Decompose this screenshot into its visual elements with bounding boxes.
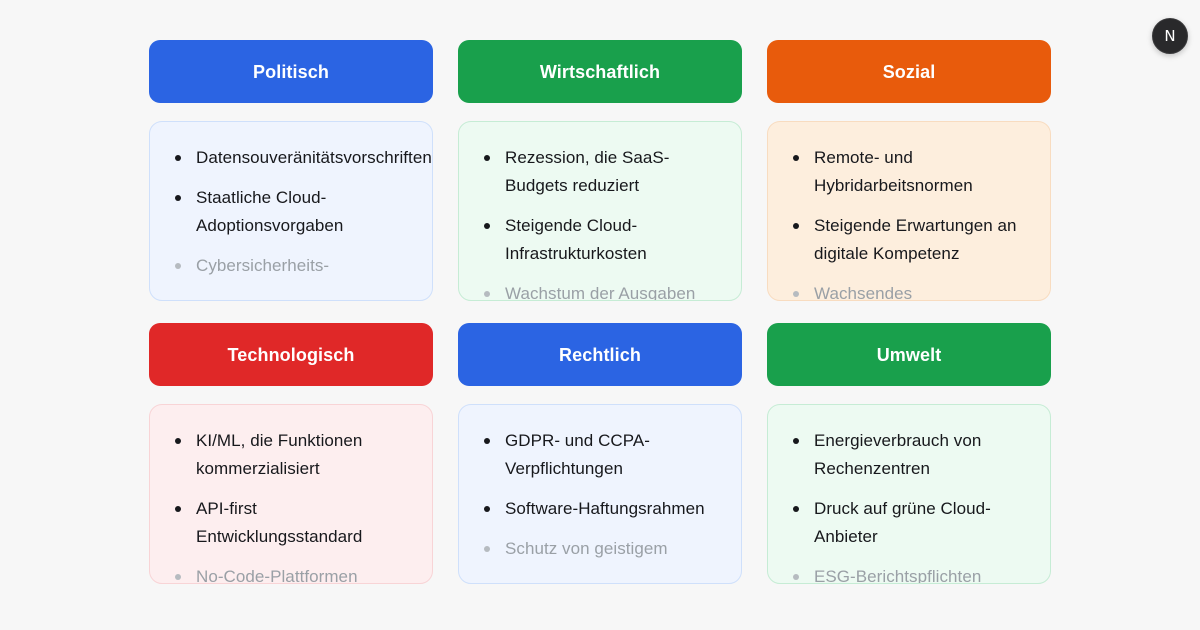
factor-list-social: Remote- und HybridarbeitsnormenSteigende… [788, 144, 1030, 301]
category-title-social: Sozial [883, 63, 936, 81]
category-body-technological: KI/ML, die Funktionen kommerzialisiertAP… [149, 404, 433, 584]
category-cell-social: SozialRemote- und HybridarbeitsnormenSte… [767, 40, 1051, 301]
factor-list-technological: KI/ML, die Funktionen kommerzialisiertAP… [170, 427, 412, 584]
category-title-technological: Technologisch [228, 346, 355, 364]
category-cell-environmental: UmweltEnergieverbrauch von Rechenzentren… [767, 323, 1051, 584]
category-body-economic: Rezession, die SaaS-Budgets reduziertSte… [458, 121, 742, 301]
category-header-environmental[interactable]: Umwelt [767, 323, 1051, 386]
category-body-political: DatensouveränitätsvorschriftenStaatliche… [149, 121, 433, 301]
list-item: Remote- und Hybridarbeitsnormen [788, 144, 1030, 200]
factor-list-political: DatensouveränitätsvorschriftenStaatliche… [170, 144, 412, 280]
category-header-social[interactable]: Sozial [767, 40, 1051, 103]
category-title-legal: Rechtlich [559, 346, 641, 364]
list-item: Cybersicherheits- [170, 252, 412, 280]
list-item: GDPR- und CCPA-Verpflichtungen [479, 427, 721, 483]
list-item: Steigende Erwartungen an digitale Kompet… [788, 212, 1030, 268]
category-cell-technological: TechnologischKI/ML, die Funktionen komme… [149, 323, 433, 584]
category-body-environmental: Energieverbrauch von RechenzentrenDruck … [767, 404, 1051, 584]
category-header-technological[interactable]: Technologisch [149, 323, 433, 386]
category-header-legal[interactable]: Rechtlich [458, 323, 742, 386]
factor-list-economic: Rezession, die SaaS-Budgets reduziertSte… [479, 144, 721, 301]
category-body-social: Remote- und HybridarbeitsnormenSteigende… [767, 121, 1051, 301]
category-cell-legal: RechtlichGDPR- und CCPA-VerpflichtungenS… [458, 323, 742, 584]
category-cell-political: PolitischDatensouveränitätsvorschriftenS… [149, 40, 433, 301]
list-item: Rezession, die SaaS-Budgets reduziert [479, 144, 721, 200]
list-item: Wachsendes [788, 280, 1030, 301]
category-title-economic: Wirtschaftlich [540, 63, 660, 81]
list-item: Staatliche Cloud-Adoptionsvorgaben [170, 184, 412, 240]
list-item: Energieverbrauch von Rechenzentren [788, 427, 1030, 483]
list-item: ESG-Berichtspflichten [788, 563, 1030, 584]
category-header-economic[interactable]: Wirtschaftlich [458, 40, 742, 103]
category-title-political: Politisch [253, 63, 329, 81]
list-item: API-first Entwicklungsstandard [170, 495, 412, 551]
pestel-grid: PolitischDatensouveränitätsvorschriftenS… [149, 40, 1051, 584]
category-title-environmental: Umwelt [877, 346, 942, 364]
list-item: Druck auf grüne Cloud-Anbieter [788, 495, 1030, 551]
list-item: Wachstum der Ausgaben [479, 280, 721, 301]
category-cell-economic: WirtschaftlichRezession, die SaaS-Budget… [458, 40, 742, 301]
nextjs-dev-indicator-label: N [1164, 29, 1175, 44]
category-header-political[interactable]: Politisch [149, 40, 433, 103]
list-item: Software-Haftungsrahmen [479, 495, 721, 523]
nextjs-dev-indicator-badge[interactable]: N [1152, 18, 1188, 54]
category-body-legal: GDPR- und CCPA-VerpflichtungenSoftware-H… [458, 404, 742, 584]
list-item: No-Code-Plattformen [170, 563, 412, 584]
list-item: Schutz von geistigem [479, 535, 721, 563]
list-item: KI/ML, die Funktionen kommerzialisiert [170, 427, 412, 483]
factor-list-environmental: Energieverbrauch von RechenzentrenDruck … [788, 427, 1030, 584]
list-item: Datensouveränitätsvorschriften [170, 144, 412, 172]
list-item: Steigende Cloud-Infrastrukturkosten [479, 212, 721, 268]
factor-list-legal: GDPR- und CCPA-VerpflichtungenSoftware-H… [479, 427, 721, 563]
